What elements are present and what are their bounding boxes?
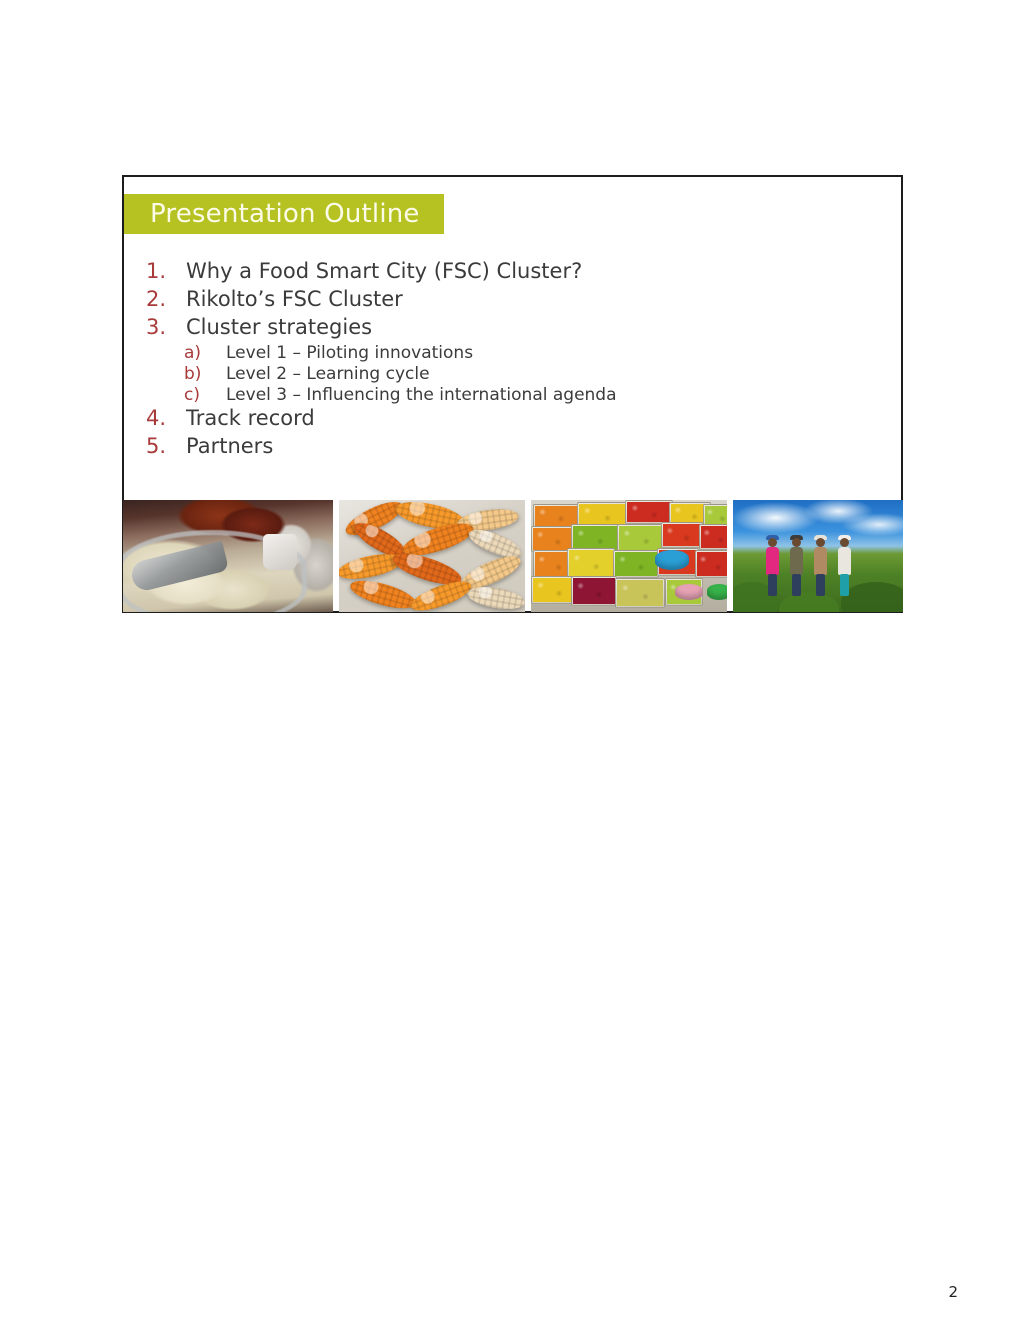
list-item: 5. Partners bbox=[146, 434, 881, 458]
list-item: 3. Cluster strategies bbox=[146, 315, 881, 339]
list-item-label: Cluster strategies bbox=[186, 315, 372, 339]
slide-title-band: Presentation Outline bbox=[124, 194, 444, 234]
fruit-and-vegetable-market-photo bbox=[531, 500, 727, 612]
list-item: 1. Why a Food Smart City (FSC) Cluster? bbox=[146, 259, 881, 283]
list-item-label: Track record bbox=[186, 406, 315, 430]
list-item-marker: 1. bbox=[146, 259, 186, 283]
list-item-marker: 2. bbox=[146, 287, 186, 311]
document-page: Presentation Outline 1. Why a Food Smart… bbox=[0, 0, 1024, 1325]
list-item-marker: 5. bbox=[146, 434, 186, 458]
page-number: 2 bbox=[948, 1283, 958, 1301]
sub-list-item: c) Level 3 – Influencing the internation… bbox=[184, 385, 881, 405]
list-item: 2. Rikolto’s FSC Cluster bbox=[146, 287, 881, 311]
page-title: Presentation Outline bbox=[124, 199, 420, 229]
sub-list-item-label: Level 2 – Learning cycle bbox=[226, 364, 430, 384]
sub-list-item-marker: a) bbox=[184, 343, 226, 363]
sub-list-item: b) Level 2 – Learning cycle bbox=[184, 364, 881, 384]
farmers-in-field-photo bbox=[733, 500, 903, 612]
sub-list-item: a) Level 1 – Piloting innovations bbox=[184, 343, 881, 363]
outline-list: 1. Why a Food Smart City (FSC) Cluster? … bbox=[146, 259, 881, 462]
sub-list-item-label: Level 3 – Influencing the international … bbox=[226, 385, 617, 405]
list-item-marker: 3. bbox=[146, 315, 186, 339]
photo-strip bbox=[123, 500, 903, 612]
sub-list-item-label: Level 1 – Piloting innovations bbox=[226, 343, 473, 363]
rice-and-curry-buffet-photo bbox=[123, 500, 333, 612]
list-item-label: Why a Food Smart City (FSC) Cluster? bbox=[186, 259, 582, 283]
sub-list-item-marker: b) bbox=[184, 364, 226, 384]
corn-cobs-photo bbox=[339, 500, 525, 612]
presentation-slide: Presentation Outline 1. Why a Food Smart… bbox=[122, 175, 903, 613]
list-item-label: Partners bbox=[186, 434, 273, 458]
list-item-label: Rikolto’s FSC Cluster bbox=[186, 287, 403, 311]
list-item-marker: 4. bbox=[146, 406, 186, 430]
sub-list-item-marker: c) bbox=[184, 385, 226, 405]
list-item: 4. Track record bbox=[146, 406, 881, 430]
